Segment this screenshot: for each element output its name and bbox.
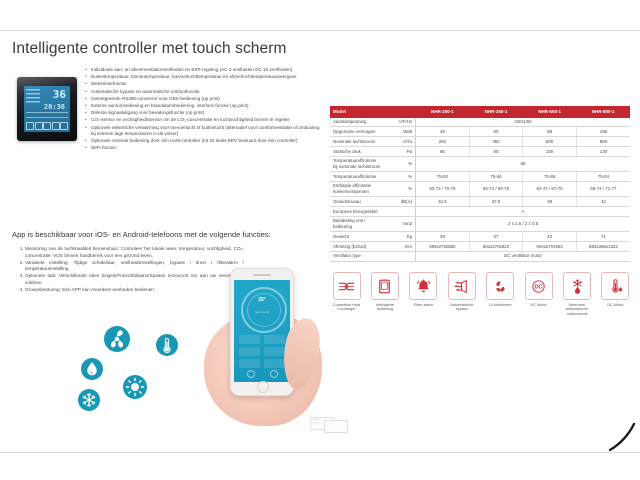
row-value: 85 [416,146,470,156]
row-value: 800 [576,137,630,147]
feature-item: Intelligente bediening [367,272,402,317]
row-value: 37 [469,232,523,242]
table-row: GeluidsniveaudB(A)34.537.53942 [330,197,630,207]
row-unit: % [384,181,416,196]
top-divider [0,30,640,31]
feature-icon-row: Couterflow Heat Exchanger Intelligente b… [329,272,633,317]
list-item: Externe aan/uit-bediening en brandalarmb… [91,103,324,110]
row-value: 34.5 [416,197,470,207]
row-label: Afmeting (bxhxd) [330,241,384,251]
table-row: Ventilator typeDC ventilator motor [330,251,630,261]
row-value: 66-72 / 69-75 [469,181,523,196]
row-value: 599x270x882 [416,241,470,251]
row-label: Gewicht [330,232,384,242]
decorative-swoosh [590,422,636,476]
table-row: Opgenome vermogenWatt466088186 [330,127,630,137]
row-label: Temperatuurefficiëntie [330,172,384,182]
row-value: 130 [576,146,630,156]
row-label: Bekabeling unit / bediening [330,216,384,231]
feature-bullet-list: Individuele aan- en afvoerventilatorsnel… [84,67,324,153]
list-item: Geïntegreerde RS485-connector voor GBS-b… [91,96,324,103]
row-value-span: 2 x 1.5 / 2 x 0.5 [416,216,630,231]
touch-panel-icon [371,272,399,300]
row-value: 350 [469,137,523,147]
spec-table-head: Model NHR-250-1 NHR-350-1 NHR-500-1 NHR-… [330,106,630,118]
list-item: Weektimerfunctie [91,81,324,88]
col-nhr-350: NHR-350-1 [469,106,523,118]
table-row: AansluitspanningV/F/Hz230/1/50 [330,118,630,127]
table-row: Europees EnergielabelA [330,207,630,217]
list-item: Defecte signaaluitgang voor bewakingsfun… [91,110,324,117]
feature-caption: DC Motor [607,303,623,308]
feature-item: DC Motor [598,272,633,317]
row-value: 804x270x822 [469,241,523,251]
row-value: 75-86 [523,172,577,182]
snowflake-icon [78,389,100,411]
row-unit [384,251,416,261]
row-value: 100 [523,146,577,156]
app-tile[interactable] [264,347,285,356]
col-unit [384,106,416,118]
watermark-logo [310,414,350,432]
touch-screen-controller-photo: 36 20:36 [17,77,77,141]
table-row: Temperatuurefficiëntie%75-8275-8475-8675… [330,172,630,182]
row-label: Geluidsniveau [330,197,384,207]
row-value: 884x388x1322 [576,241,630,251]
app-tile[interactable] [264,335,285,344]
feature-caption: Automatische bypass [444,303,479,313]
spec-table: Model NHR-250-1 NHR-350-1 NHR-500-1 NHR-… [330,106,630,262]
feature-item: 10 snelheden [483,272,518,317]
app-tile[interactable] [239,347,260,356]
row-label: Aansluitspanning [330,118,384,127]
feature-caption: Meerdere automatische ontdooimodi [560,303,595,317]
app-tile[interactable] [264,359,285,368]
fan-icon [104,326,130,352]
speed-levels-icon [486,272,514,300]
app-navbar [239,369,285,378]
row-unit: mm [384,241,416,251]
page-title: Intelligente controller met touch scherm [12,40,287,58]
bottom-divider [0,452,640,453]
nav-icon[interactable] [247,370,255,378]
list-item: WIFI-functie: [91,145,324,152]
temperature-label: room temp [234,310,290,314]
display-icon-row [26,116,68,130]
table-row: Temperatuurefficiëntie bij nominale luch… [330,156,630,171]
svg-text:DC: DC [535,284,543,290]
counterflow-heat-exchanger-icon [333,272,361,300]
display-row-1 [26,112,68,113]
smartphone-app-in-hand: 25° room temp [196,262,326,427]
smartphone-device: 25° room temp [230,268,294,396]
row-value: 90 [469,146,523,156]
row-value: 46 [416,127,470,137]
spec-table-body: AansluitspanningV/F/Hz230/1/50Opgenome v… [330,118,630,261]
row-label: Europees Energielabel [330,207,384,217]
row-label: Ventilator type [330,251,384,261]
phone-speaker [253,274,271,276]
table-row: Enthalpie efficiëntie koelen/verwarmen%6… [330,181,630,196]
row-value: 500 [523,137,577,147]
thermometer-drop-icon [601,272,629,300]
sun-icon [123,375,147,399]
list-item: CO₂-sensor en vochtigheidssensor om de C… [91,117,324,124]
row-unit: % [384,156,416,171]
row-label: Nominale luchtstroom [330,137,384,147]
display-big-number: 36 [53,89,66,100]
row-value-span: 230/1/50 [416,118,630,127]
table-row: Bekabeling unit / bedieningmm22 x 1.5 / … [330,216,630,231]
row-label: Opgenome vermogen [330,127,384,137]
row-value: 75-84 [469,172,523,182]
row-unit: mm2 [384,216,416,231]
water-drop-icon [81,358,103,380]
dc-motor-icon: DC [525,272,553,300]
row-unit: % [384,172,416,182]
row-value-span: DC ventilator motor [416,251,630,261]
row-value-span: 85 [416,156,630,171]
row-value: 250 [416,137,470,147]
row-label: Enthalpie efficiëntie koelen/verwarmen [330,181,384,196]
row-value: 60 [469,127,523,137]
row-unit: dB(A) [384,197,416,207]
temperature-value: 25° [234,298,290,308]
feature-caption: Couterflow Heat Exchanger [329,303,364,313]
row-unit: Watt [384,127,416,137]
col-nhr-250: NHR-250-1 [416,106,470,118]
list-item: Optionele elektrische verwarming voor to… [91,125,324,138]
row-value: 65-74 / 71-77 [576,181,630,196]
row-unit [384,207,416,217]
display-mid-number: 20:36 [44,104,65,111]
defrost-modes-icon [563,272,591,300]
row-unit: Pa [384,146,416,156]
table-row: GewichtKg29374371 [330,232,630,242]
row-value: 62-74 / 67-75 [523,181,577,196]
app-tile[interactable] [239,335,260,344]
feature-caption: 10 snelheden [489,303,512,308]
app-section-heading: App is beschikbaar voor iOS- en Android-… [12,230,312,239]
table-header-row: Model NHR-250-1 NHR-350-1 NHR-500-1 NHR-… [330,106,630,118]
row-value: 75-82 [416,172,470,182]
feature-caption: Filter alarm [414,303,433,308]
app-tile[interactable] [239,359,260,368]
row-unit: V/F/Hz [384,118,416,127]
list-item: Individuele aan- en afvoerventilatorsnel… [91,67,324,74]
feature-caption: Intelligente bediening [367,303,402,313]
list-item: Optionele centrale bediening door één mu… [91,138,324,145]
thermometer-icon [156,334,178,356]
feature-item: Filter alarm [406,272,441,317]
table-row: Nominale luchtstroomm³/u250350500800 [330,137,630,147]
row-value: 43 [523,232,577,242]
col-nhr-800: NHR-800-1 [576,106,630,118]
col-nhr-500: NHR-500-1 [523,106,577,118]
col-model: Model [330,106,384,118]
feature-item: Automatische bypass [444,272,479,317]
row-value: 63-73 / 70-75 [416,181,470,196]
nav-icon[interactable] [270,370,278,378]
list-item: Buitentemperatuur, binnentemperatuur, to… [91,74,324,81]
phone-screen: 25° room temp [234,280,290,382]
list-item: Automatische bypass en automatische ontd… [91,89,324,96]
feature-item: Couterflow Heat Exchanger [329,272,364,317]
bell-icon [409,272,437,300]
row-value: 29 [416,232,470,242]
slide-canvas: Intelligente controller met touch scherm… [0,0,640,480]
feature-caption: DC Motor [530,303,546,308]
row-value: 42 [576,197,630,207]
list-item: Monitoring van de luchtkwaliteit binnens… [25,246,244,259]
row-value: 39 [523,197,577,207]
row-value: 904x270x962 [523,241,577,251]
row-value: 71 [576,232,630,242]
feature-item: DC DC Motor [521,272,556,317]
row-value: 37.5 [469,197,523,207]
home-button[interactable] [257,381,269,393]
row-value: 75-84 [576,172,630,182]
table-row: Statische drukPa8590100130 [330,146,630,156]
table-row: Afmeting (bxhxd)mm599x270x882804x270x822… [330,241,630,251]
degree-symbol: ° [264,297,266,303]
row-value: 186 [576,127,630,137]
feature-item: Meerdere automatische ontdooimodi [560,272,595,317]
row-unit: m³/u [384,137,416,147]
row-value-span: A [416,207,630,217]
row-label: Temperatuurefficiëntie bij nominale luch… [330,156,384,171]
row-value: 88 [523,127,577,137]
app-tile-grid [239,335,285,368]
controller-display: 36 20:36 [24,86,70,132]
bullet-items: Individuele aan- en afvoerventilatorsnel… [84,67,324,152]
spec-table-container: Model NHR-250-1 NHR-350-1 NHR-500-1 NHR-… [330,106,630,262]
row-label: Statische druk [330,146,384,156]
row-unit: Kg [384,232,416,242]
bypass-damper-icon [448,272,476,300]
